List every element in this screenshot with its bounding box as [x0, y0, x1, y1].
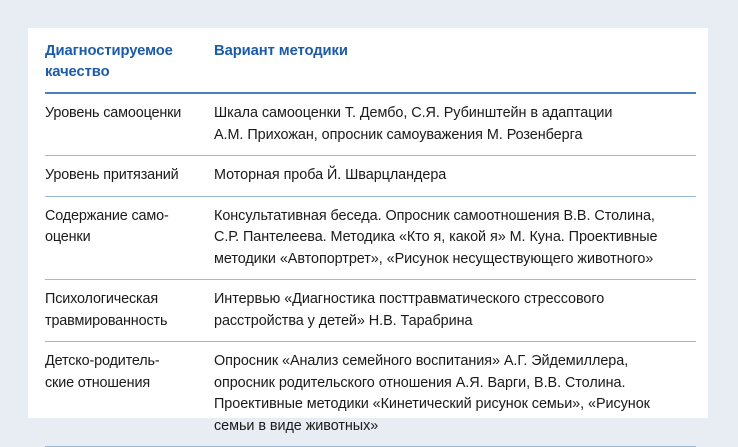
table-header-label-quality: Диагностируемое качество — [45, 41, 204, 83]
table-card: Диагностируемое качество Вариант методик… — [28, 28, 708, 418]
table-cell-method: Опросник «Анализ семейного воспитания» А… — [214, 351, 696, 437]
method-text: Консультативная беседа. Опросник самоотн… — [214, 206, 696, 271]
method-text: Моторная проба Й. Шварцландера — [214, 165, 696, 187]
quality-text: Содержание само- оценки — [45, 206, 204, 249]
page-background: Диагностируемое качество Вариант методик… — [0, 0, 738, 447]
method-text: Опросник «Анализ семейного воспитания» А… — [214, 351, 696, 437]
table-cell-method: Моторная проба Й. Шварцландера — [214, 165, 696, 187]
table-cell-quality: Психологическая травмированность — [45, 289, 214, 332]
table-header-cell-method: Вариант методики — [214, 41, 696, 62]
table-cell-quality: Детско-родитель- ские отношения — [45, 351, 214, 394]
diagnostics-table: Диагностируемое качество Вариант методик… — [45, 28, 696, 447]
quality-text: Детско-родитель- ские отношения — [45, 351, 204, 394]
table-row: Содержание само- оценки Консультативная … — [45, 197, 696, 280]
table-cell-method: Интервью «Диагностика посттравматическог… — [214, 289, 696, 332]
table-cell-method: Шкала самооценки Т. Дембо, С.Я. Рубинште… — [214, 103, 696, 146]
table-header-row: Диагностируемое качество Вариант методик… — [45, 28, 696, 92]
table-cell-quality: Уровень притязаний — [45, 165, 214, 187]
method-text: Интервью «Диагностика посттравматическог… — [214, 289, 696, 332]
quality-text: Уровень самооценки — [45, 103, 204, 125]
table-row: Детско-родитель- ские отношения Опросник… — [45, 342, 696, 446]
method-text: Шкала самооценки Т. Дембо, С.Я. Рубинште… — [214, 103, 696, 146]
quality-text: Психологическая травмированность — [45, 289, 204, 332]
table-row: Уровень притязаний Моторная проба Й. Шва… — [45, 156, 696, 196]
table-cell-method: Консультативная беседа. Опросник самоотн… — [214, 206, 696, 271]
quality-text: Уровень притязаний — [45, 165, 204, 187]
table-cell-quality: Уровень самооценки — [45, 103, 214, 125]
table-row: Психологическая травмированность Интервь… — [45, 280, 696, 341]
table-header-label-method: Вариант методики — [214, 41, 696, 62]
table-row: Уровень самооценки Шкала самооценки Т. Д… — [45, 94, 696, 155]
table-cell-quality: Содержание само- оценки — [45, 206, 214, 249]
table-header-cell-quality: Диагностируемое качество — [45, 41, 214, 83]
